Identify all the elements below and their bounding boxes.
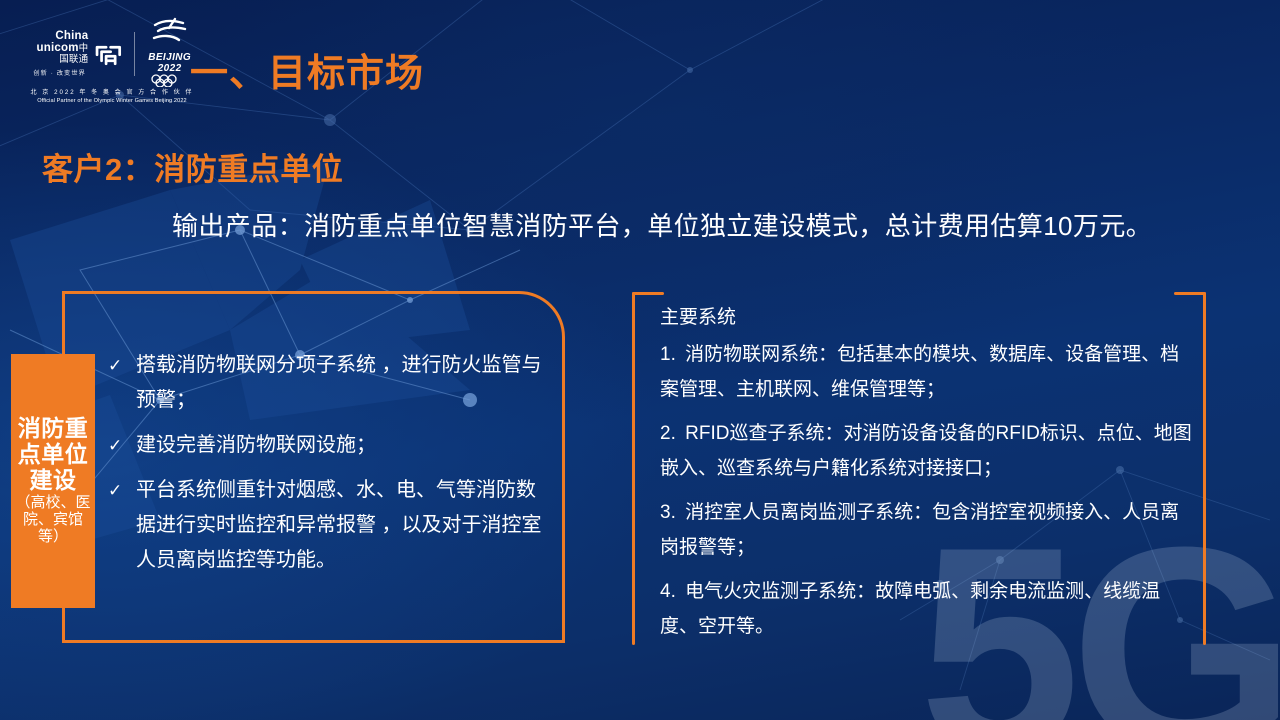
partner-logo-lockup: China unicom中国联通 创新 · 改变世界 (28, 27, 196, 111)
right-panel-content: 主要系统 1. 消防物联网系统：包括基本的模块、数据库、设备管理、档案管理、主机… (660, 303, 1195, 653)
right-panel-bracket-left (632, 292, 635, 645)
bullet-text: 搭载消防物联网分项子系统 ，进行防火监管与预警； (136, 348, 548, 418)
item-number: 4. (660, 581, 676, 602)
partner-caption-cn: 北 京 2022 年 冬 奥 会 官 方 合 作 伙 伴 (28, 87, 196, 96)
unicom-slogan: 创新 · 改变世界 (28, 68, 91, 77)
item-text: 电气火灾监测子系统：故障电弧、剩余电流监测、线缆温度、空开等。 (660, 581, 1160, 637)
item-text: 消控室人员离岗监测子系统：包含消控室视频接入、人员离岗报警等； (660, 502, 1179, 558)
list-item: ✓ 平台系统侧重针对烟感、水、电、气等消防数据进行实时监控和异常报警 ，以及对于… (108, 473, 548, 578)
partner-caption-en: Official Partner of the Olympic Winter G… (28, 98, 196, 104)
unicom-knot-icon (91, 37, 124, 71)
partner-caption: 北 京 2022 年 冬 奥 会 官 方 合 作 伙 伴 Official Pa… (28, 87, 196, 104)
olympic-rings-icon (149, 74, 191, 87)
list-item: 4. 电气火灾监测子系统：故障电弧、剩余电流监测、线缆温度、空开等。 (660, 574, 1195, 644)
logo-divider (134, 32, 135, 76)
list-item: 3. 消控室人员离岗监测子系统：包含消控室视频接入、人员离岗报警等； (660, 495, 1195, 565)
item-text: RFID巡查子系统：对消防设备设备的RFID标识、点位、地图嵌入、巡查系统与户籍… (660, 423, 1192, 479)
section-title: 一、目标市场 (190, 42, 424, 97)
unicom-brand-en-line1: China (55, 30, 88, 42)
left-tab-title: 消防重点单位建设 (15, 416, 91, 493)
item-number: 1. (660, 344, 676, 365)
beijing-2022-logo: BEIJING 2022 (143, 16, 196, 92)
left-tab-subtitle: （高校、医院、宾馆等） (15, 495, 91, 545)
right-panel-heading: 主要系统 (660, 303, 1195, 333)
right-panel-bracket-left-cap (632, 292, 664, 295)
left-panel-tab: 消防重点单位建设 （高校、医院、宾馆等） (11, 354, 95, 608)
right-panel-bracket-right (1203, 292, 1206, 645)
beijing-2022-wordmark: BEIJING 2022 (143, 52, 196, 74)
china-unicom-logo: China unicom中国联通 创新 · 改变世界 (28, 31, 125, 77)
client-title: 客户2：消防重点单位 (42, 144, 343, 189)
slide-canvas: 5G China unicom中国联通 创新 · 改变世界 (0, 0, 1280, 720)
slide-header: China unicom中国联通 创新 · 改变世界 (0, 0, 1280, 130)
left-panel-bullet-list: ✓ 搭载消防物联网分项子系统 ，进行防火监管与预警； ✓ 建设完善消防物联网设施… (108, 348, 548, 588)
check-mark-icon: ✓ (108, 473, 136, 508)
item-text: 消防物联网系统：包括基本的模块、数据库、设备管理、档案管理、主机联网、维保管理等… (660, 344, 1179, 400)
list-item: ✓ 搭载消防物联网分项子系统 ，进行防火监管与预警； (108, 348, 548, 418)
bullet-text: 平台系统侧重针对烟感、水、电、气等消防数据进行实时监控和异常报警 ，以及对于消控… (136, 473, 548, 578)
list-item: 1. 消防物联网系统：包括基本的模块、数据库、设备管理、档案管理、主机联网、维保… (660, 337, 1195, 407)
right-panel-bracket-right-cap (1174, 292, 1206, 295)
winter-olympics-emblem-icon (149, 16, 191, 46)
item-number: 3. (660, 502, 676, 523)
bullet-text: 建设完善消防物联网设施； (136, 428, 548, 463)
check-mark-icon: ✓ (108, 428, 136, 463)
list-item: ✓ 建设完善消防物联网设施； (108, 428, 548, 463)
item-number: 2. (660, 423, 676, 444)
unicom-brand-en-line2: unicom (37, 42, 79, 54)
check-mark-icon: ✓ (108, 348, 136, 383)
list-item: 2. RFID巡查子系统：对消防设备设备的RFID标识、点位、地图嵌入、巡查系统… (660, 416, 1195, 486)
product-summary-line: 输出产品：消防重点单位智慧消防平台，单位独立建设模式，总计费用估算10万元。 (172, 206, 1152, 243)
